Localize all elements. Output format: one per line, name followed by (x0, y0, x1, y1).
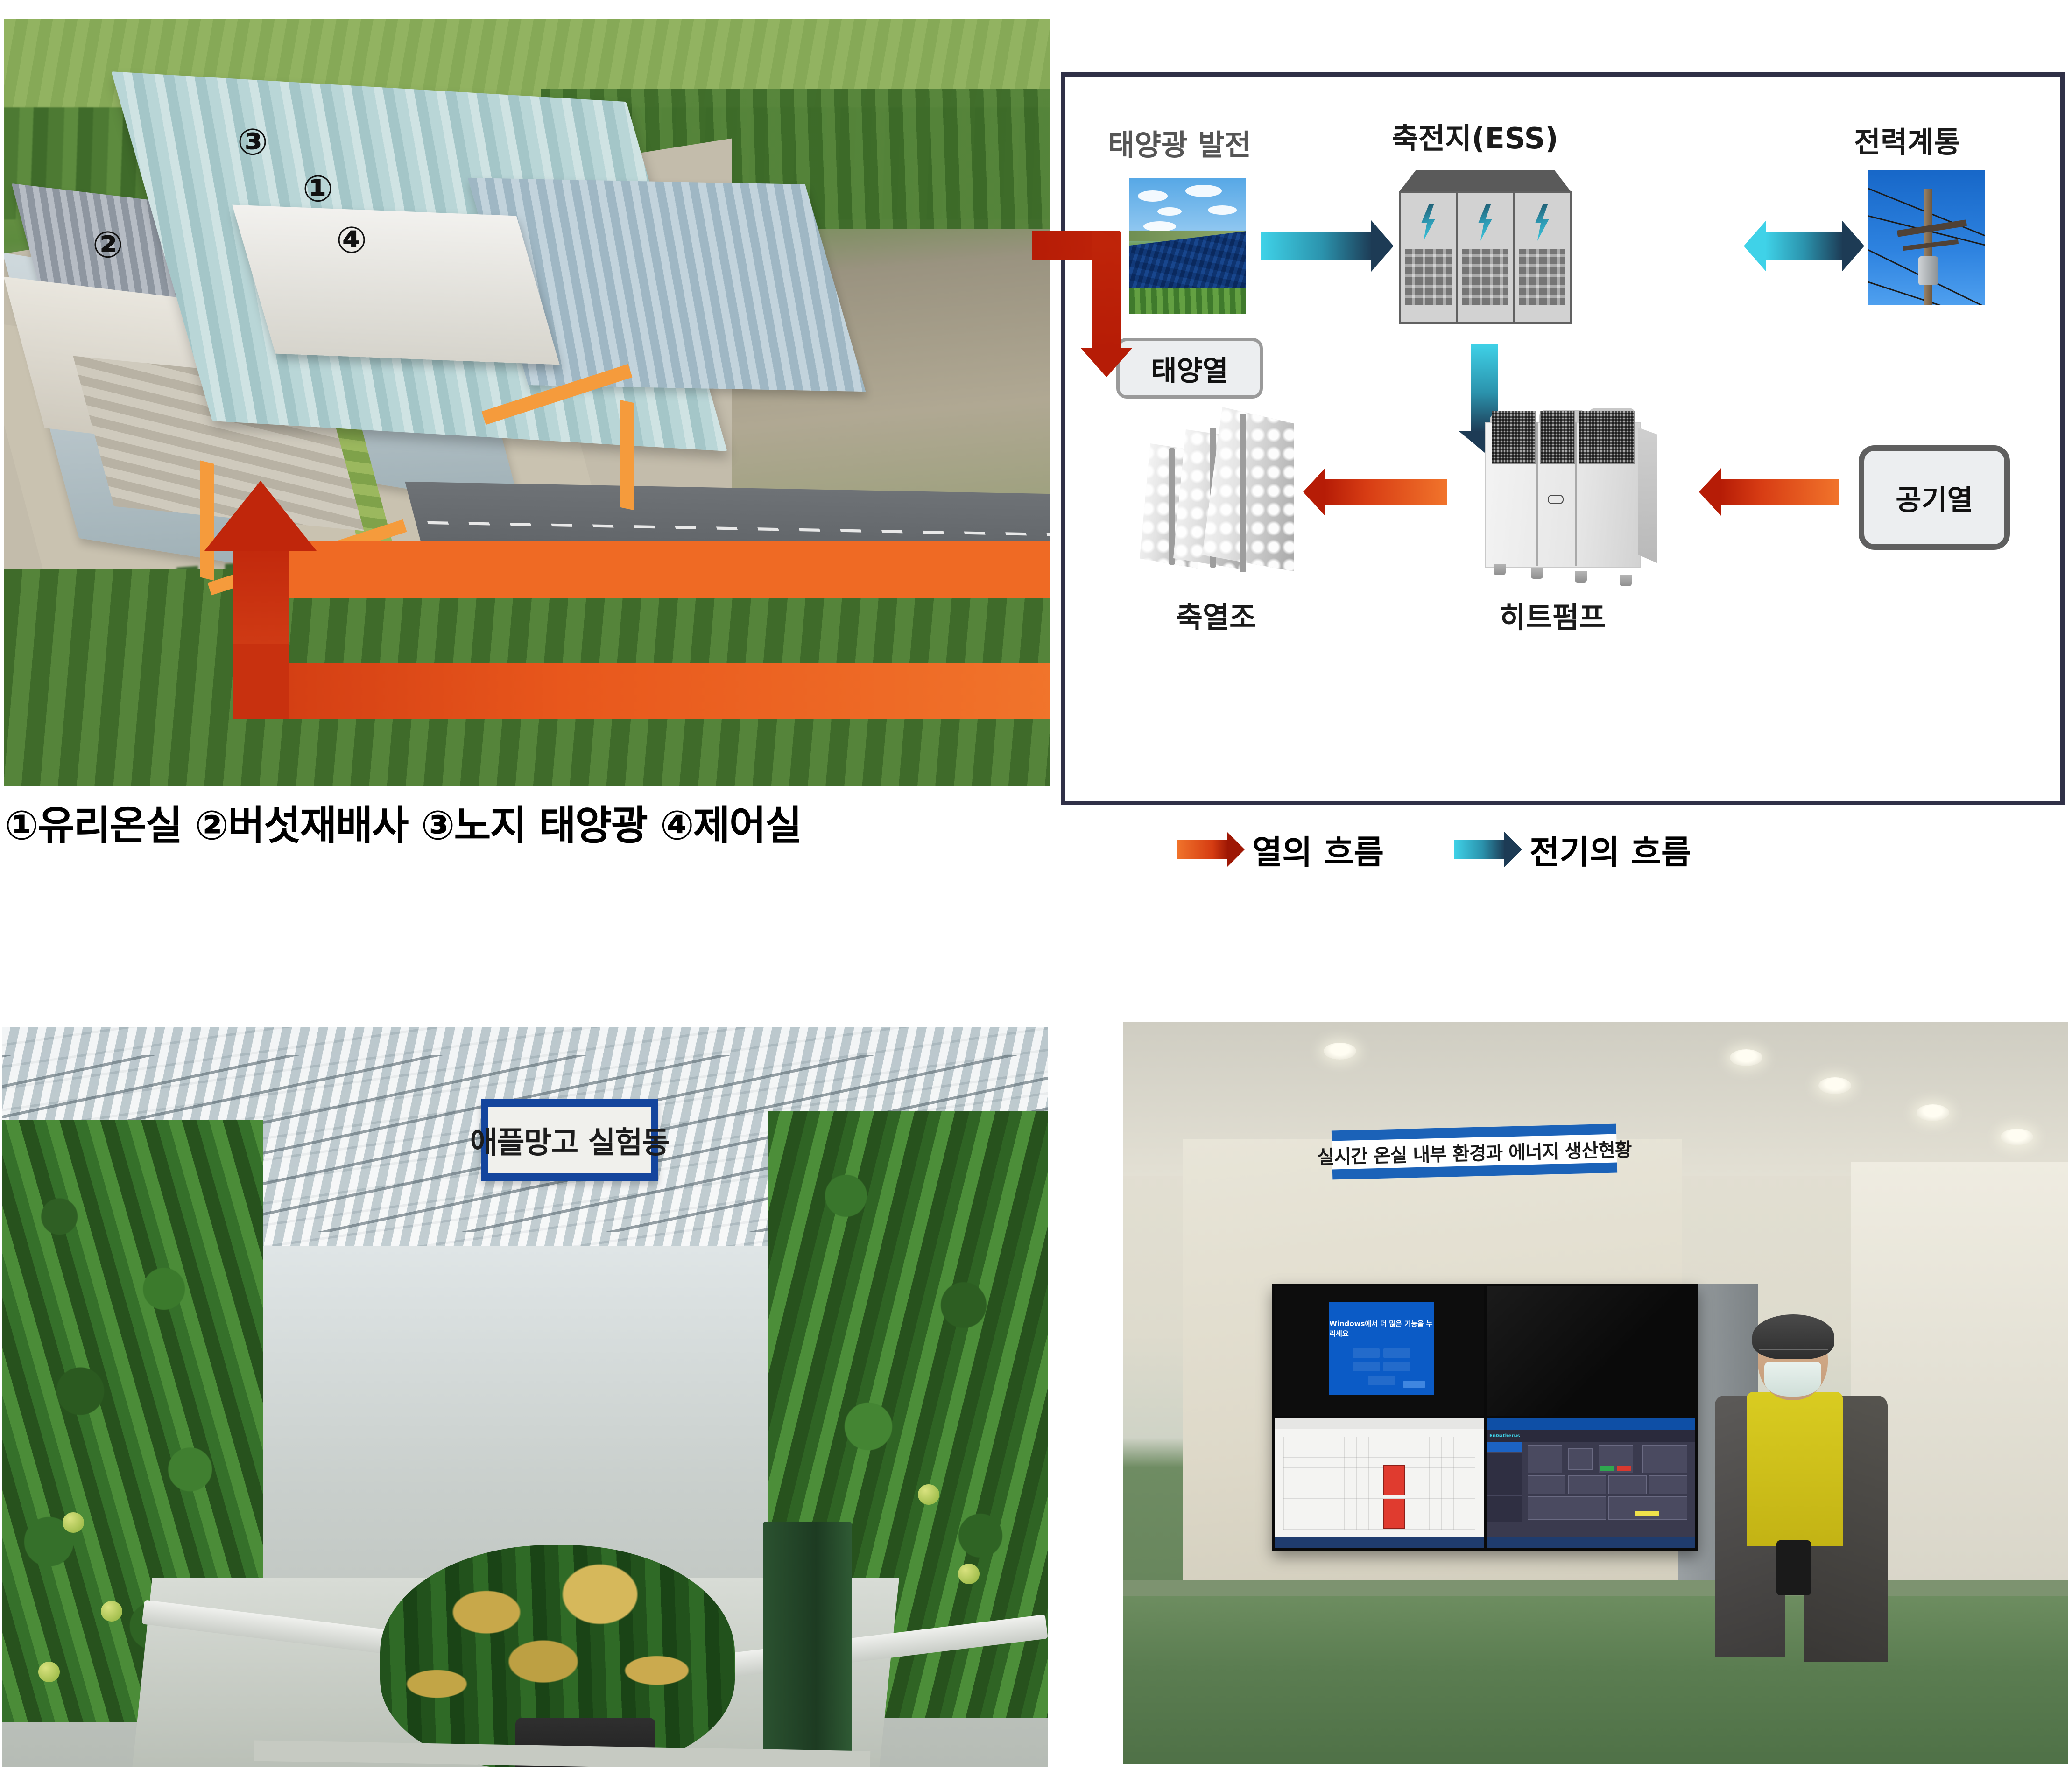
control-room-banner: 실시간 온실 내부 환경과 에너지 생산현황 (1332, 1124, 1617, 1180)
aerial-site-render: ③ ① ② ④ (4, 19, 1050, 786)
baseboard (1123, 1580, 2068, 1599)
heatpump-label: 히트펌프 (1499, 594, 1606, 636)
power-grid-photo (1868, 170, 1985, 305)
pv-label: 태양광 발전 (1108, 121, 1251, 163)
greenhouse-sign: 애플망고 실험동 (481, 1099, 658, 1181)
screen-bottom-right[interactable]: EnGatherus (1487, 1418, 1695, 1548)
arrow-heatpump-to-tank (1325, 479, 1447, 505)
lightning-bolt-icon (1474, 204, 1496, 241)
control-building (232, 205, 559, 365)
tank-label: 축열조 (1176, 594, 1256, 636)
air-heat-label: 공기열 (1896, 477, 1973, 518)
legend-heat-label: 열의 흐름 (1252, 826, 1384, 873)
windows-dialog-ok-button[interactable] (1403, 1381, 1425, 1388)
windows-setup-dialog[interactable]: Windows에서 더 많은 기능을 누리세요 (1329, 1302, 1434, 1395)
air-heat-source-box: 공기열 (1859, 445, 2010, 550)
heat-return-band (233, 663, 1050, 719)
ess-top-cap (1399, 170, 1572, 192)
legend-item-electric: 전기의 흐름 (1454, 826, 1691, 873)
legend-item-heat: 열의 흐름 (1177, 826, 1384, 873)
dashboard-brand-label: EnGatherus (1489, 1433, 1520, 1439)
ess-battery-cabinet (1399, 170, 1572, 324)
dashboard-sidebar[interactable] (1487, 1442, 1522, 1522)
screen-top-left[interactable]: Windows에서 더 많은 기능을 누리세요 (1275, 1286, 1484, 1416)
windows-dialog-subtext (1337, 1341, 1426, 1344)
ess-vent-grid (1405, 249, 1451, 305)
control-room-banner-text: 실시간 온실 내부 환경과 에너지 생산현황 (1317, 1134, 1632, 1169)
arrow-pv-to-ess (1261, 232, 1372, 260)
thermal-storage-tank (1140, 403, 1294, 581)
energy-system-diagram: 태양광 발전 축전지(ESS) 전력계통 태양열 (1061, 72, 2065, 805)
heat-pump-grille (1540, 411, 1575, 464)
heat-pump-grille (1492, 411, 1536, 464)
screen-bottom-left[interactable] (1275, 1418, 1484, 1548)
marker-2: ② (92, 224, 123, 266)
marker-1: ① (303, 168, 333, 210)
epoxy-floor (1123, 1596, 2068, 1764)
lightning-bolt-icon (1531, 204, 1553, 241)
person-in-control-room (1706, 1321, 1907, 1676)
ess-vent-grid (1519, 249, 1565, 305)
control-room-photo: Windows에서 더 많은 기능을 누리세요 EnGatherus (1123, 1022, 2068, 1764)
dashboard-stop-button[interactable] (1617, 1466, 1631, 1471)
windows-dialog-title: Windows에서 더 많은 기능을 누리세요 (1329, 1319, 1434, 1338)
screen-top-right[interactable] (1487, 1286, 1695, 1416)
diagram-legend: 열의 흐름 전기의 흐름 (1177, 821, 2064, 877)
marker-3: ③ (237, 121, 268, 163)
electric-arrow-icon (1454, 840, 1505, 859)
grid-label: 전력계통 (1854, 119, 1960, 161)
arrow-ess-to-grid (1765, 232, 1843, 260)
monitor-video-wall[interactable]: Windows에서 더 많은 기능을 누리세요 EnGatherus (1272, 1284, 1698, 1551)
arrow-solarheat-to-tank (1032, 231, 1149, 385)
ess-cabinet-body (1399, 191, 1572, 324)
ess-vent-grid (1462, 249, 1508, 305)
arrow-airheat-to-heatpump (1720, 479, 1839, 505)
dashboard-main-area (1524, 1442, 1693, 1522)
smartphone (1776, 1540, 1811, 1595)
dashboard-start-button[interactable] (1600, 1466, 1614, 1471)
heat-pump-grille (1579, 411, 1635, 464)
heat-arrow-icon (1177, 840, 1228, 859)
face-mask (1764, 1362, 1821, 1397)
solar-heat-label: 태양열 (1151, 348, 1228, 389)
ess-label: 축전지(ESS) (1392, 115, 1558, 157)
greenhouse-sign-text: 애플망고 실험동 (470, 1119, 669, 1162)
lightning-bolt-icon (1417, 204, 1439, 241)
heat-return-arrowhead (204, 481, 317, 551)
control-room-outline-right (620, 400, 634, 510)
green-steel-post (763, 1522, 852, 1767)
aerial-caption: ①유리온실 ②버섯재배사 ③노지 태양광 ④제어실 (5, 793, 1046, 849)
heat-pump-unit (1485, 403, 1663, 581)
legend-electric-label: 전기의 흐름 (1529, 826, 1691, 873)
heat-supply-band (265, 541, 1050, 598)
marker-4: ④ (336, 219, 367, 261)
